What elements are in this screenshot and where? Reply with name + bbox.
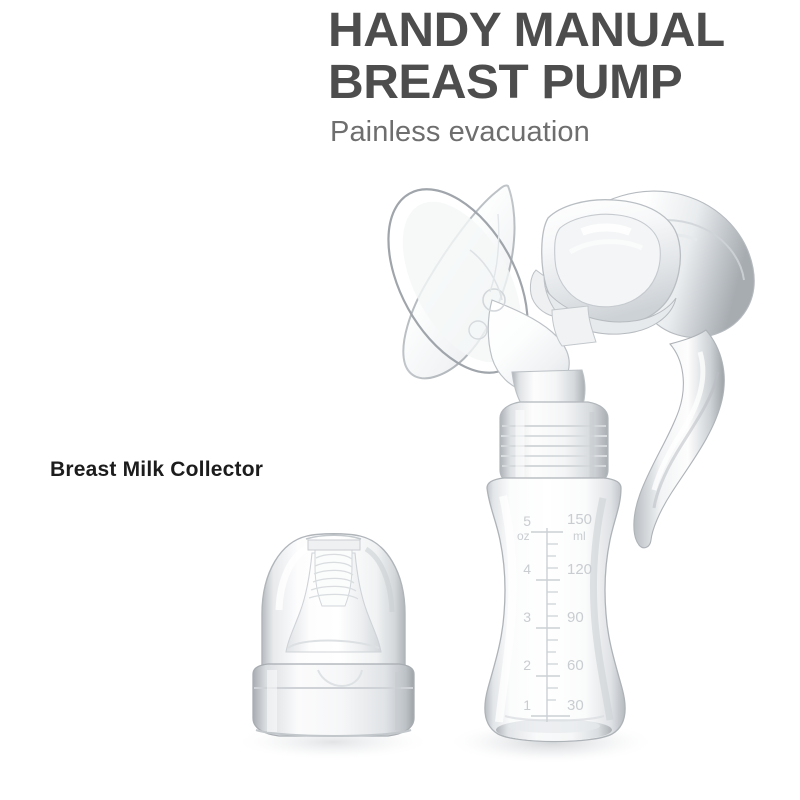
breast-milk-collector-label: Breast Milk Collector [50, 458, 263, 482]
headline-line-2: BREAST PUMP [328, 60, 761, 106]
bottle-collar-ring [253, 664, 414, 736]
headline-block: HANDY MANUAL BREAST PUMP Painless evacua… [328, 8, 748, 149]
nipple-dome-cap [253, 534, 414, 736]
collection-bottle [485, 478, 625, 742]
threaded-neck-collar [500, 402, 608, 488]
headline-line-1: HANDY MANUAL [328, 8, 761, 54]
subheadline: Painless evacuation [330, 116, 748, 149]
product-banner-scene: 5 oz 4 3 2 1 150 ml 120 90 60 30 HANDY M… [0, 0, 800, 800]
